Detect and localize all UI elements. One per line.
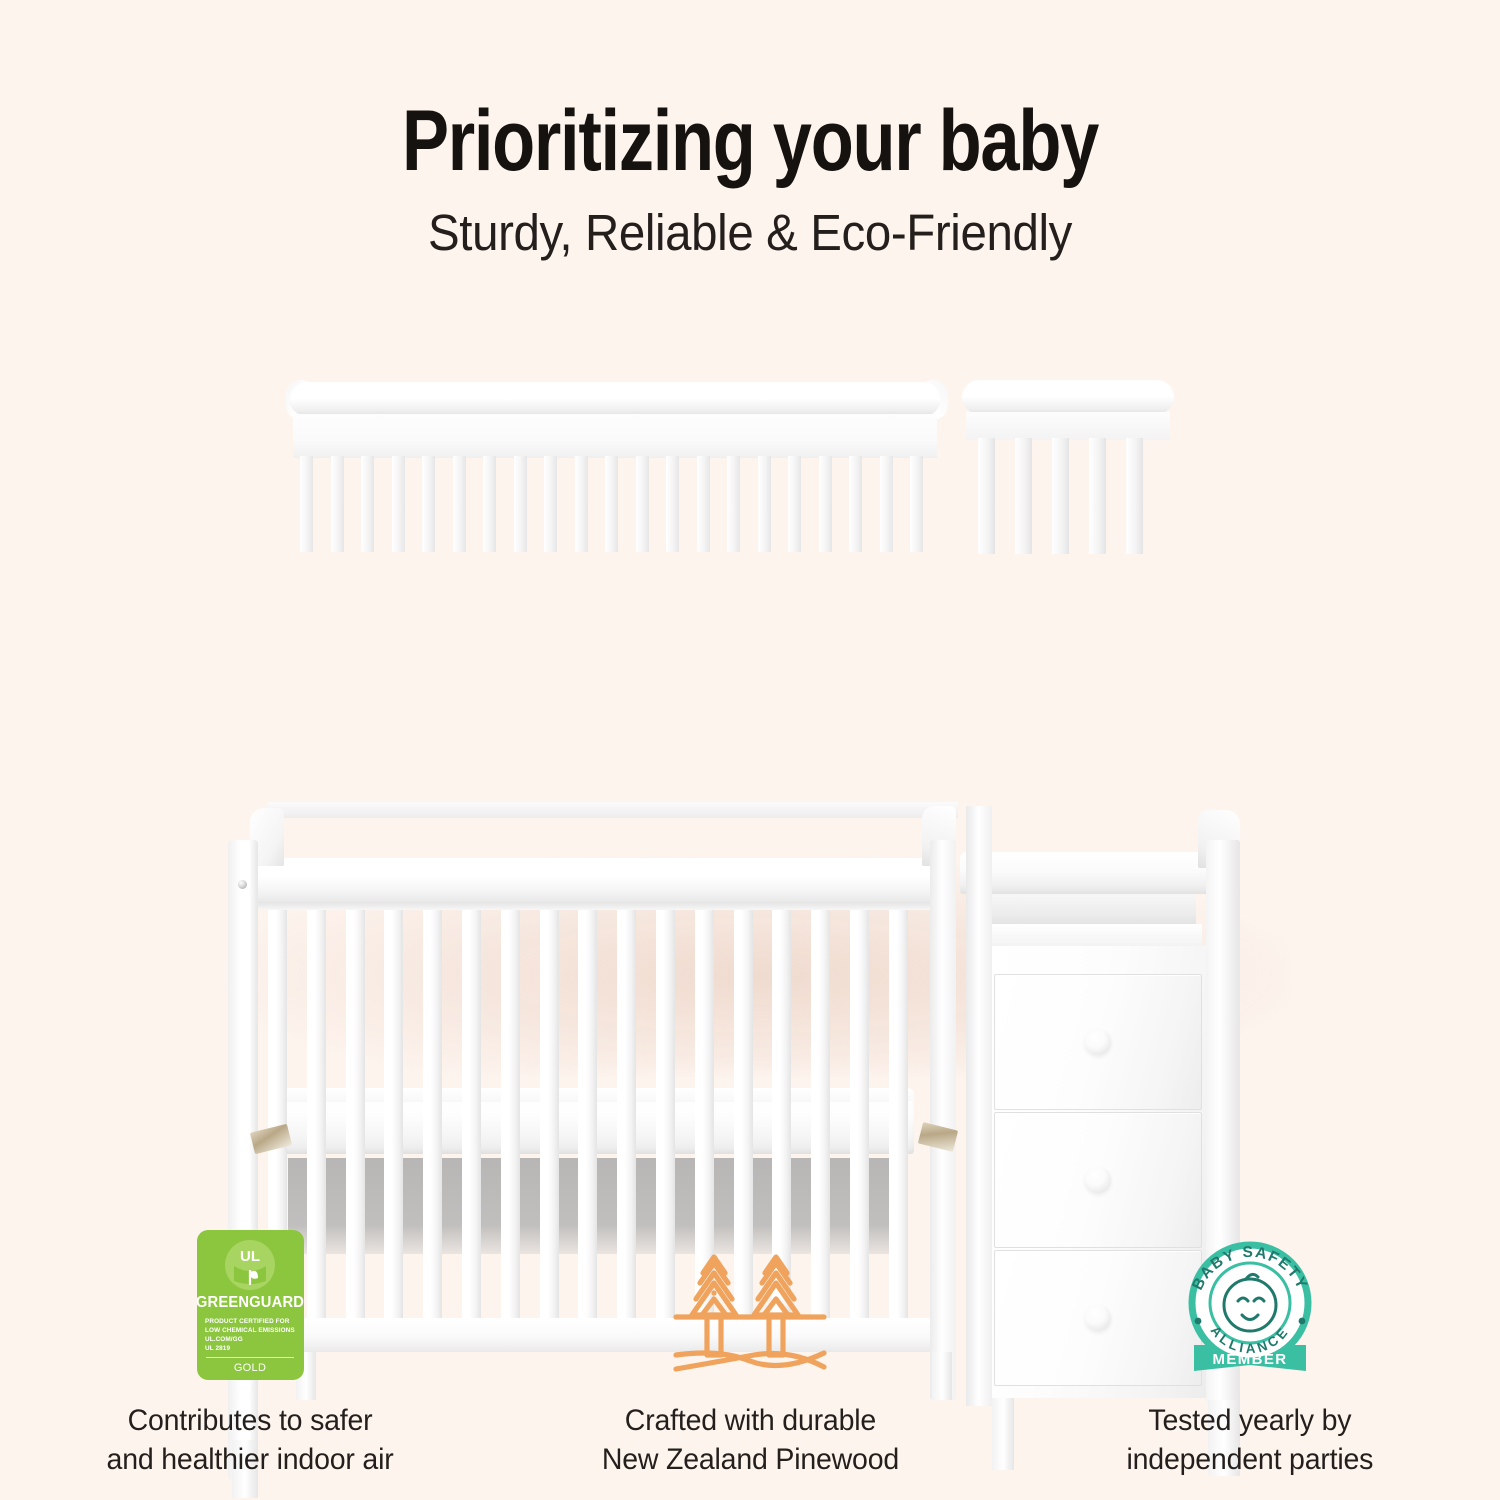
changer-back-slat [1126,438,1143,554]
badge-art: UL GREENGUARD PRODUCT CERTIFIED FOR LOW … [197,1225,304,1385]
caption-line: Crafted with durable [601,1401,898,1440]
caption-line: independent parties [1127,1440,1374,1479]
ul-mark-icon: UL [225,1240,275,1290]
greenguard-divider [206,1357,294,1358]
fine-print-line: UL.COM/GG [205,1335,295,1344]
fine-print-line: LOW CHEMICAL EMISSIONS [205,1326,295,1335]
baby-safety-alliance-seal-icon: BABY SAFETY ALLIANCE MEMBER [1174,1229,1326,1381]
badge-new-zealand-pinewood: Crafted with durable New Zealand Pinewoo… [500,1225,1000,1479]
changer-back-panel [966,412,1170,440]
greenguard-tier-label: GOLD [234,1362,266,1374]
page-subtitle: Sturdy, Reliable & Eco-Friendly [53,203,1448,262]
badge-greenguard-gold: UL GREENGUARD PRODUCT CERTIFIED FOR LOW … [0,1225,500,1479]
changer-tray-lip [960,852,1222,894]
badge-caption: Contributes to safer and healthier indoo… [107,1401,394,1479]
header: Prioritizing your baby Sturdy, Reliable … [0,0,1500,262]
caption-line: Tested yearly by [1127,1401,1374,1440]
changer-drawer-top[interactable] [994,974,1202,1110]
changer-top-rail [962,380,1174,414]
changer-back-slat [978,438,995,554]
pine-trees-icon [662,1229,838,1381]
badge-art [662,1225,838,1385]
badge-caption: Tested yearly by independent parties [1127,1401,1374,1479]
drawer-knob-icon[interactable] [1085,1029,1111,1055]
svg-text:MEMBER: MEMBER [1212,1351,1287,1368]
certification-badges-row: UL GREENGUARD PRODUCT CERTIFIED FOR LOW … [0,1225,1500,1479]
badge-caption: Crafted with durable New Zealand Pinewoo… [601,1401,898,1479]
badge-baby-safety-alliance: BABY SAFETY ALLIANCE MEMBER Tested yearl… [1000,1225,1500,1479]
caption-line: Contributes to safer [107,1401,394,1440]
caption-line: and healthier indoor air [107,1440,394,1479]
drawer-knob-icon[interactable] [1085,1167,1111,1193]
greenguard-fine-print: PRODUCT CERTIFIED FOR LOW CHEMICAL EMISS… [205,1317,295,1353]
product-image [0,340,1500,1170]
changer-tray-front [980,924,1202,948]
changer-back-slat [1089,438,1106,554]
changer-back-slat [1015,438,1032,554]
svg-text:UL: UL [240,1248,260,1265]
changer-tray [984,894,1196,928]
greenguard-ul-leaf-icon: UL GREENGUARD PRODUCT CERTIFIED FOR LOW … [197,1230,304,1380]
page-title: Prioritizing your baby [135,96,1365,187]
badge-art: BABY SAFETY ALLIANCE MEMBER [1174,1225,1326,1385]
fine-print-line: UL 2819 [205,1344,295,1353]
changer-back-slats [978,438,1162,554]
changing-table-section [0,340,1500,1170]
changer-back-slat [1052,438,1069,554]
caption-line: New Zealand Pinewood [601,1440,898,1479]
greenguard-wordmark: GREENGUARD [197,1294,304,1312]
fine-print-line: PRODUCT CERTIFIED FOR [205,1317,295,1326]
